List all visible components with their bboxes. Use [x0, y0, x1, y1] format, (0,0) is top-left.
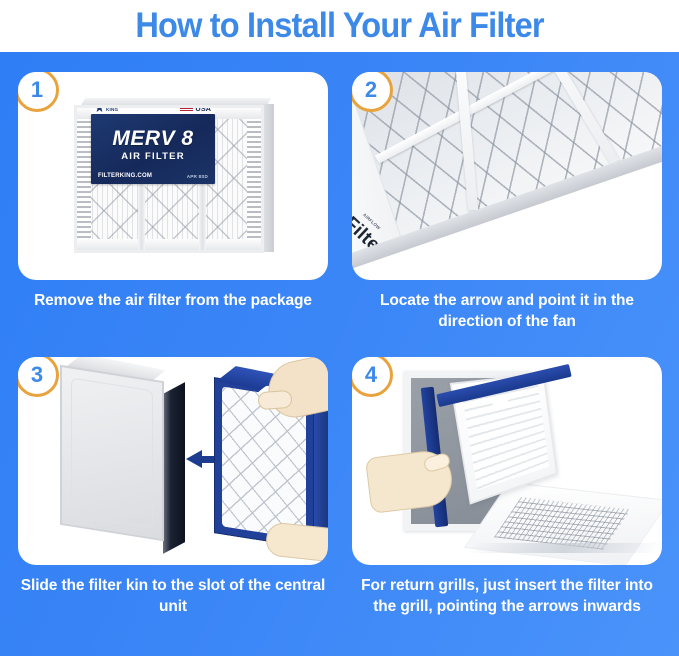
usa-flag-icon — [180, 105, 193, 112]
step-4-caption: For return grills, just insert the filte… — [352, 576, 662, 618]
step-3-image-card: 3 — [18, 357, 328, 565]
made-in-usa-badge: MADE IN USA — [180, 105, 211, 113]
filter-king-logo: FILTER KING — [95, 105, 123, 112]
drop-shadow — [466, 543, 662, 553]
step-3-number: 3 — [31, 364, 43, 386]
filter-front-face: FILTER KING MADE IN USA — [74, 105, 264, 253]
step-2-caption: Locate the arrow and point it in the dir… — [352, 291, 662, 333]
step-card-4: 4 — [352, 357, 662, 618]
central-unit-face — [60, 365, 164, 541]
steps-canvas: 1 — [0, 52, 679, 656]
header: How to Install Your Air Filter — [0, 0, 679, 52]
step-4-number: 4 — [365, 364, 377, 386]
filter-corner-photo: Air Filter AIRFLOW — [352, 72, 662, 280]
step-card-1: 1 — [18, 72, 328, 312]
product-type-label: AIR FILTER — [91, 151, 215, 162]
step-3-caption: Slide the filter kin to the slot of the … — [18, 576, 328, 618]
hand-lower — [264, 521, 328, 562]
air-filter-product-photo: FILTER KING MADE IN USA — [18, 72, 328, 280]
country-label: USA — [195, 105, 211, 112]
crown-icon — [95, 105, 104, 112]
return-grill-illustration — [352, 357, 662, 565]
brand-line-2: KING — [106, 108, 123, 113]
website-label: FILTERKING.COM — [98, 173, 152, 179]
filter-label: FILTER KING MADE IN USA — [91, 114, 215, 184]
step-1-image-card: 1 — [18, 72, 328, 280]
page-title: How to Install Your Air Filter — [135, 6, 543, 46]
step-card-2: 2 Air Filter AIRFLOW — [352, 72, 662, 333]
slide-filter-illustration — [18, 357, 328, 565]
filter-label-header: FILTER KING MADE IN USA — [91, 105, 215, 114]
step-2-image-card: 2 Air Filter AIRFLOW — [352, 72, 662, 280]
merv-rating: MERV 8 — [91, 127, 215, 151]
step-4-image-card: 4 — [352, 357, 662, 565]
product-code-label: APR 8SD — [187, 174, 208, 179]
thumb-upper — [257, 390, 292, 410]
step-1-number: 1 — [31, 79, 43, 101]
grill-base-mesh — [494, 497, 631, 549]
step-card-3: 3 — [18, 357, 328, 618]
step-2-number: 2 — [365, 79, 377, 101]
step-1-caption: Remove the air filter from the package — [18, 291, 328, 312]
infographic-page: How to Install Your Air Filter 1 — [0, 0, 679, 656]
central-unit-slot — [163, 382, 185, 554]
